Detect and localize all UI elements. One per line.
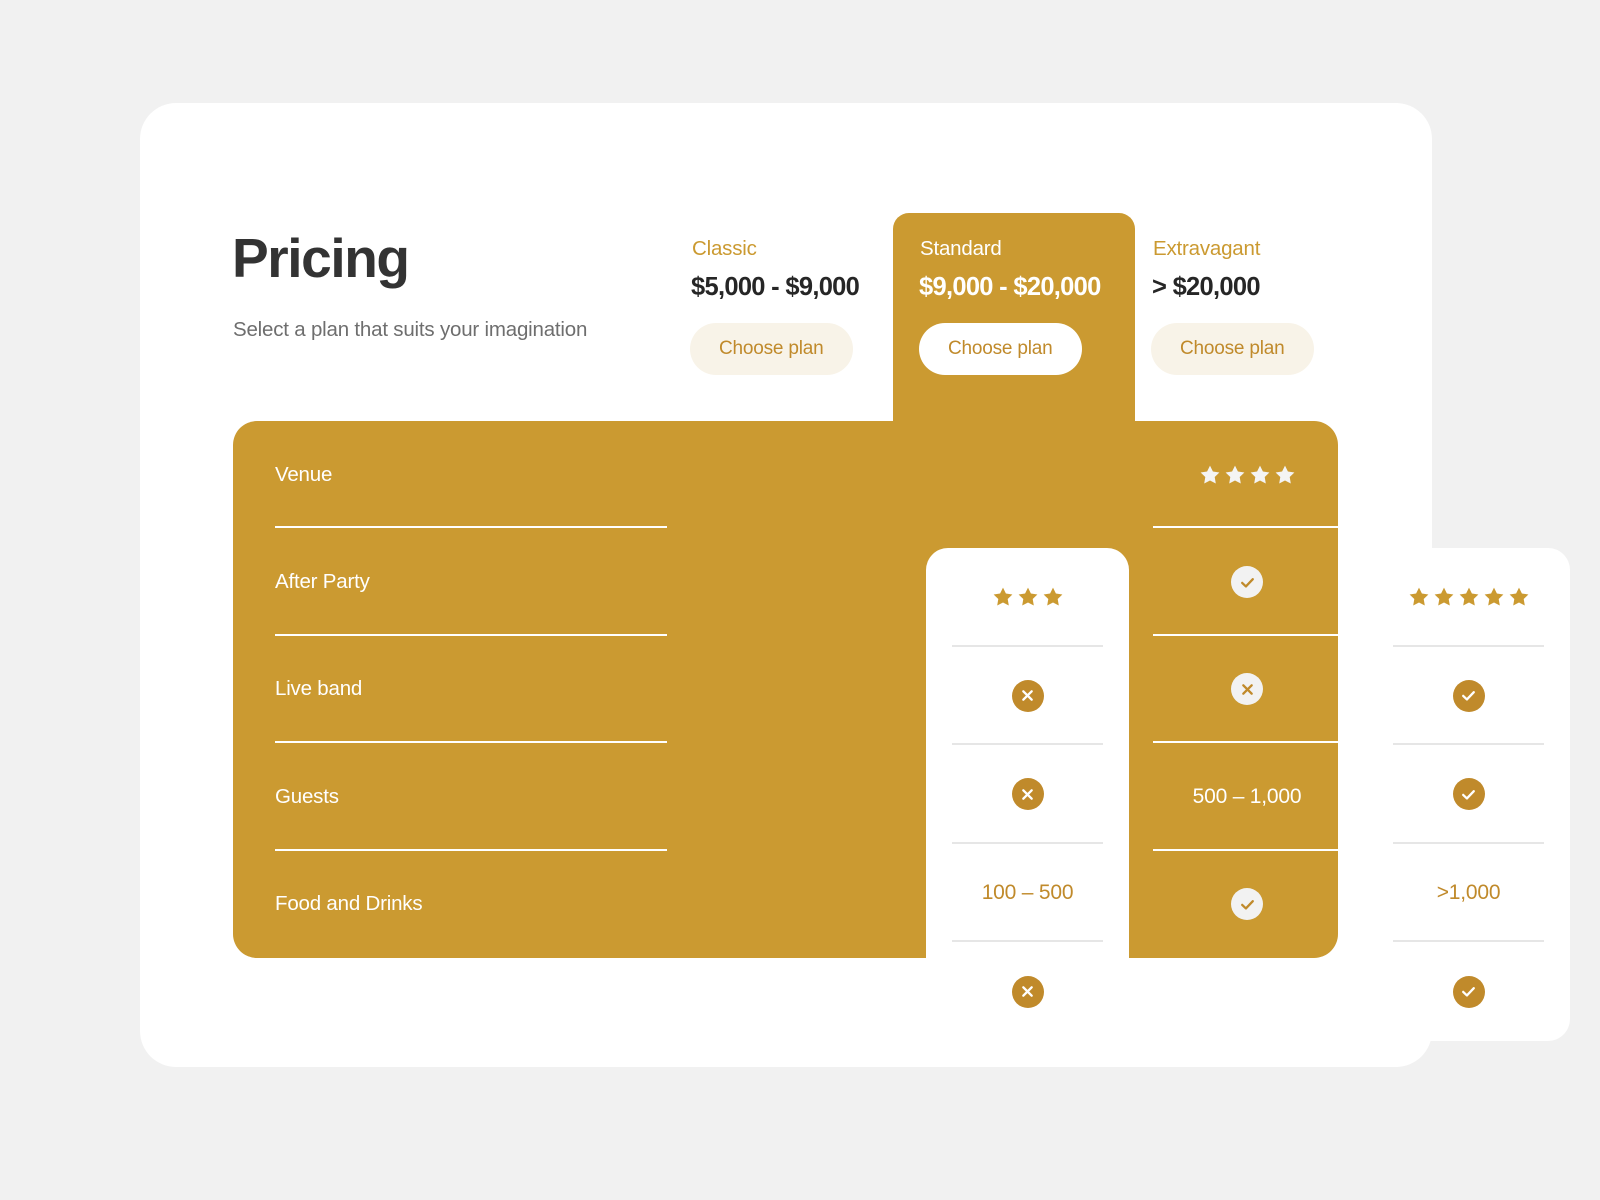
plan-price-standard: $9,000 - $20,000 [919, 273, 1135, 302]
value-cell: >1,000 [1367, 844, 1570, 943]
choose-plan-button-standard[interactable]: Choose plan [919, 323, 1082, 375]
value-cell [926, 745, 1129, 844]
value-cell: 100 – 500 [926, 844, 1129, 943]
check-badge [1453, 778, 1485, 810]
value-cell [926, 548, 1129, 647]
star-icon [992, 586, 1014, 608]
page-title: Pricing [232, 231, 409, 286]
star-icon [1508, 586, 1530, 608]
check-badge [1231, 888, 1263, 920]
plan-name-extravagant: Extravagant [1153, 237, 1393, 261]
feature-row: After Party [275, 528, 667, 635]
star-rating [992, 586, 1064, 608]
check-badge [1231, 566, 1263, 598]
feature-row: Food and Drinks [275, 851, 667, 958]
feature-label-column: Venue After Party Live band Guests Food … [233, 421, 693, 958]
value-cell [1126, 421, 1368, 528]
check-badge [1453, 976, 1485, 1008]
feature-label: Venue [275, 463, 332, 487]
check-badge [1453, 680, 1485, 712]
star-icon [1017, 586, 1039, 608]
cross-badge [1231, 673, 1263, 705]
star-icon [1433, 586, 1455, 608]
cross-badge [1012, 976, 1044, 1008]
value-column-classic: 100 – 500 [926, 548, 1129, 1041]
value-column-standard: 500 – 1,000 [1126, 421, 1368, 958]
star-icon [1408, 586, 1430, 608]
value-column-extravagant: >1,000 [1367, 548, 1570, 1041]
star-icon [1458, 586, 1480, 608]
star-icon [1249, 464, 1271, 486]
feature-row: Live band [275, 636, 667, 743]
value-cell [1126, 636, 1368, 743]
feature-label: After Party [275, 570, 370, 594]
cross-badge [1012, 778, 1044, 810]
plan-header-extravagant: Extravagant > $20,000 Choose plan [1151, 237, 1393, 375]
choose-plan-button-extravagant[interactable]: Choose plan [1151, 323, 1314, 375]
feature-label: Live band [275, 677, 362, 701]
value-cell [926, 942, 1129, 1041]
value-cell [1367, 548, 1570, 647]
star-icon [1042, 586, 1064, 608]
value-text: 100 – 500 [982, 881, 1074, 905]
value-cell [1126, 851, 1368, 958]
plan-price-extravagant: > $20,000 [1152, 273, 1393, 302]
star-icon [1483, 586, 1505, 608]
value-cell [1367, 745, 1570, 844]
star-icon [1199, 464, 1221, 486]
star-icon [1224, 464, 1246, 486]
value-cell [1367, 647, 1570, 746]
feature-label: Food and Drinks [275, 892, 422, 916]
feature-label: Guests [275, 785, 339, 809]
comparison-table: Venue After Party Live band Guests Food … [233, 421, 1338, 958]
value-cell [1126, 528, 1368, 635]
value-cell [926, 647, 1129, 746]
choose-plan-button-classic[interactable]: Choose plan [690, 323, 853, 375]
value-cell: 500 – 1,000 [1126, 743, 1368, 850]
star-rating [1408, 586, 1530, 608]
value-cell [1367, 942, 1570, 1041]
feature-row: Venue [275, 421, 667, 528]
plan-name-standard: Standard [920, 237, 1135, 261]
star-icon [1274, 464, 1296, 486]
page-subtitle: Select a plan that suits your imaginatio… [233, 318, 587, 342]
star-rating [1199, 464, 1296, 486]
feature-row: Guests [275, 743, 667, 850]
pricing-card: Pricing Select a plan that suits your im… [140, 103, 1432, 1067]
value-text: >1,000 [1437, 881, 1501, 905]
cross-badge [1012, 680, 1044, 712]
value-text: 500 – 1,000 [1193, 785, 1302, 809]
